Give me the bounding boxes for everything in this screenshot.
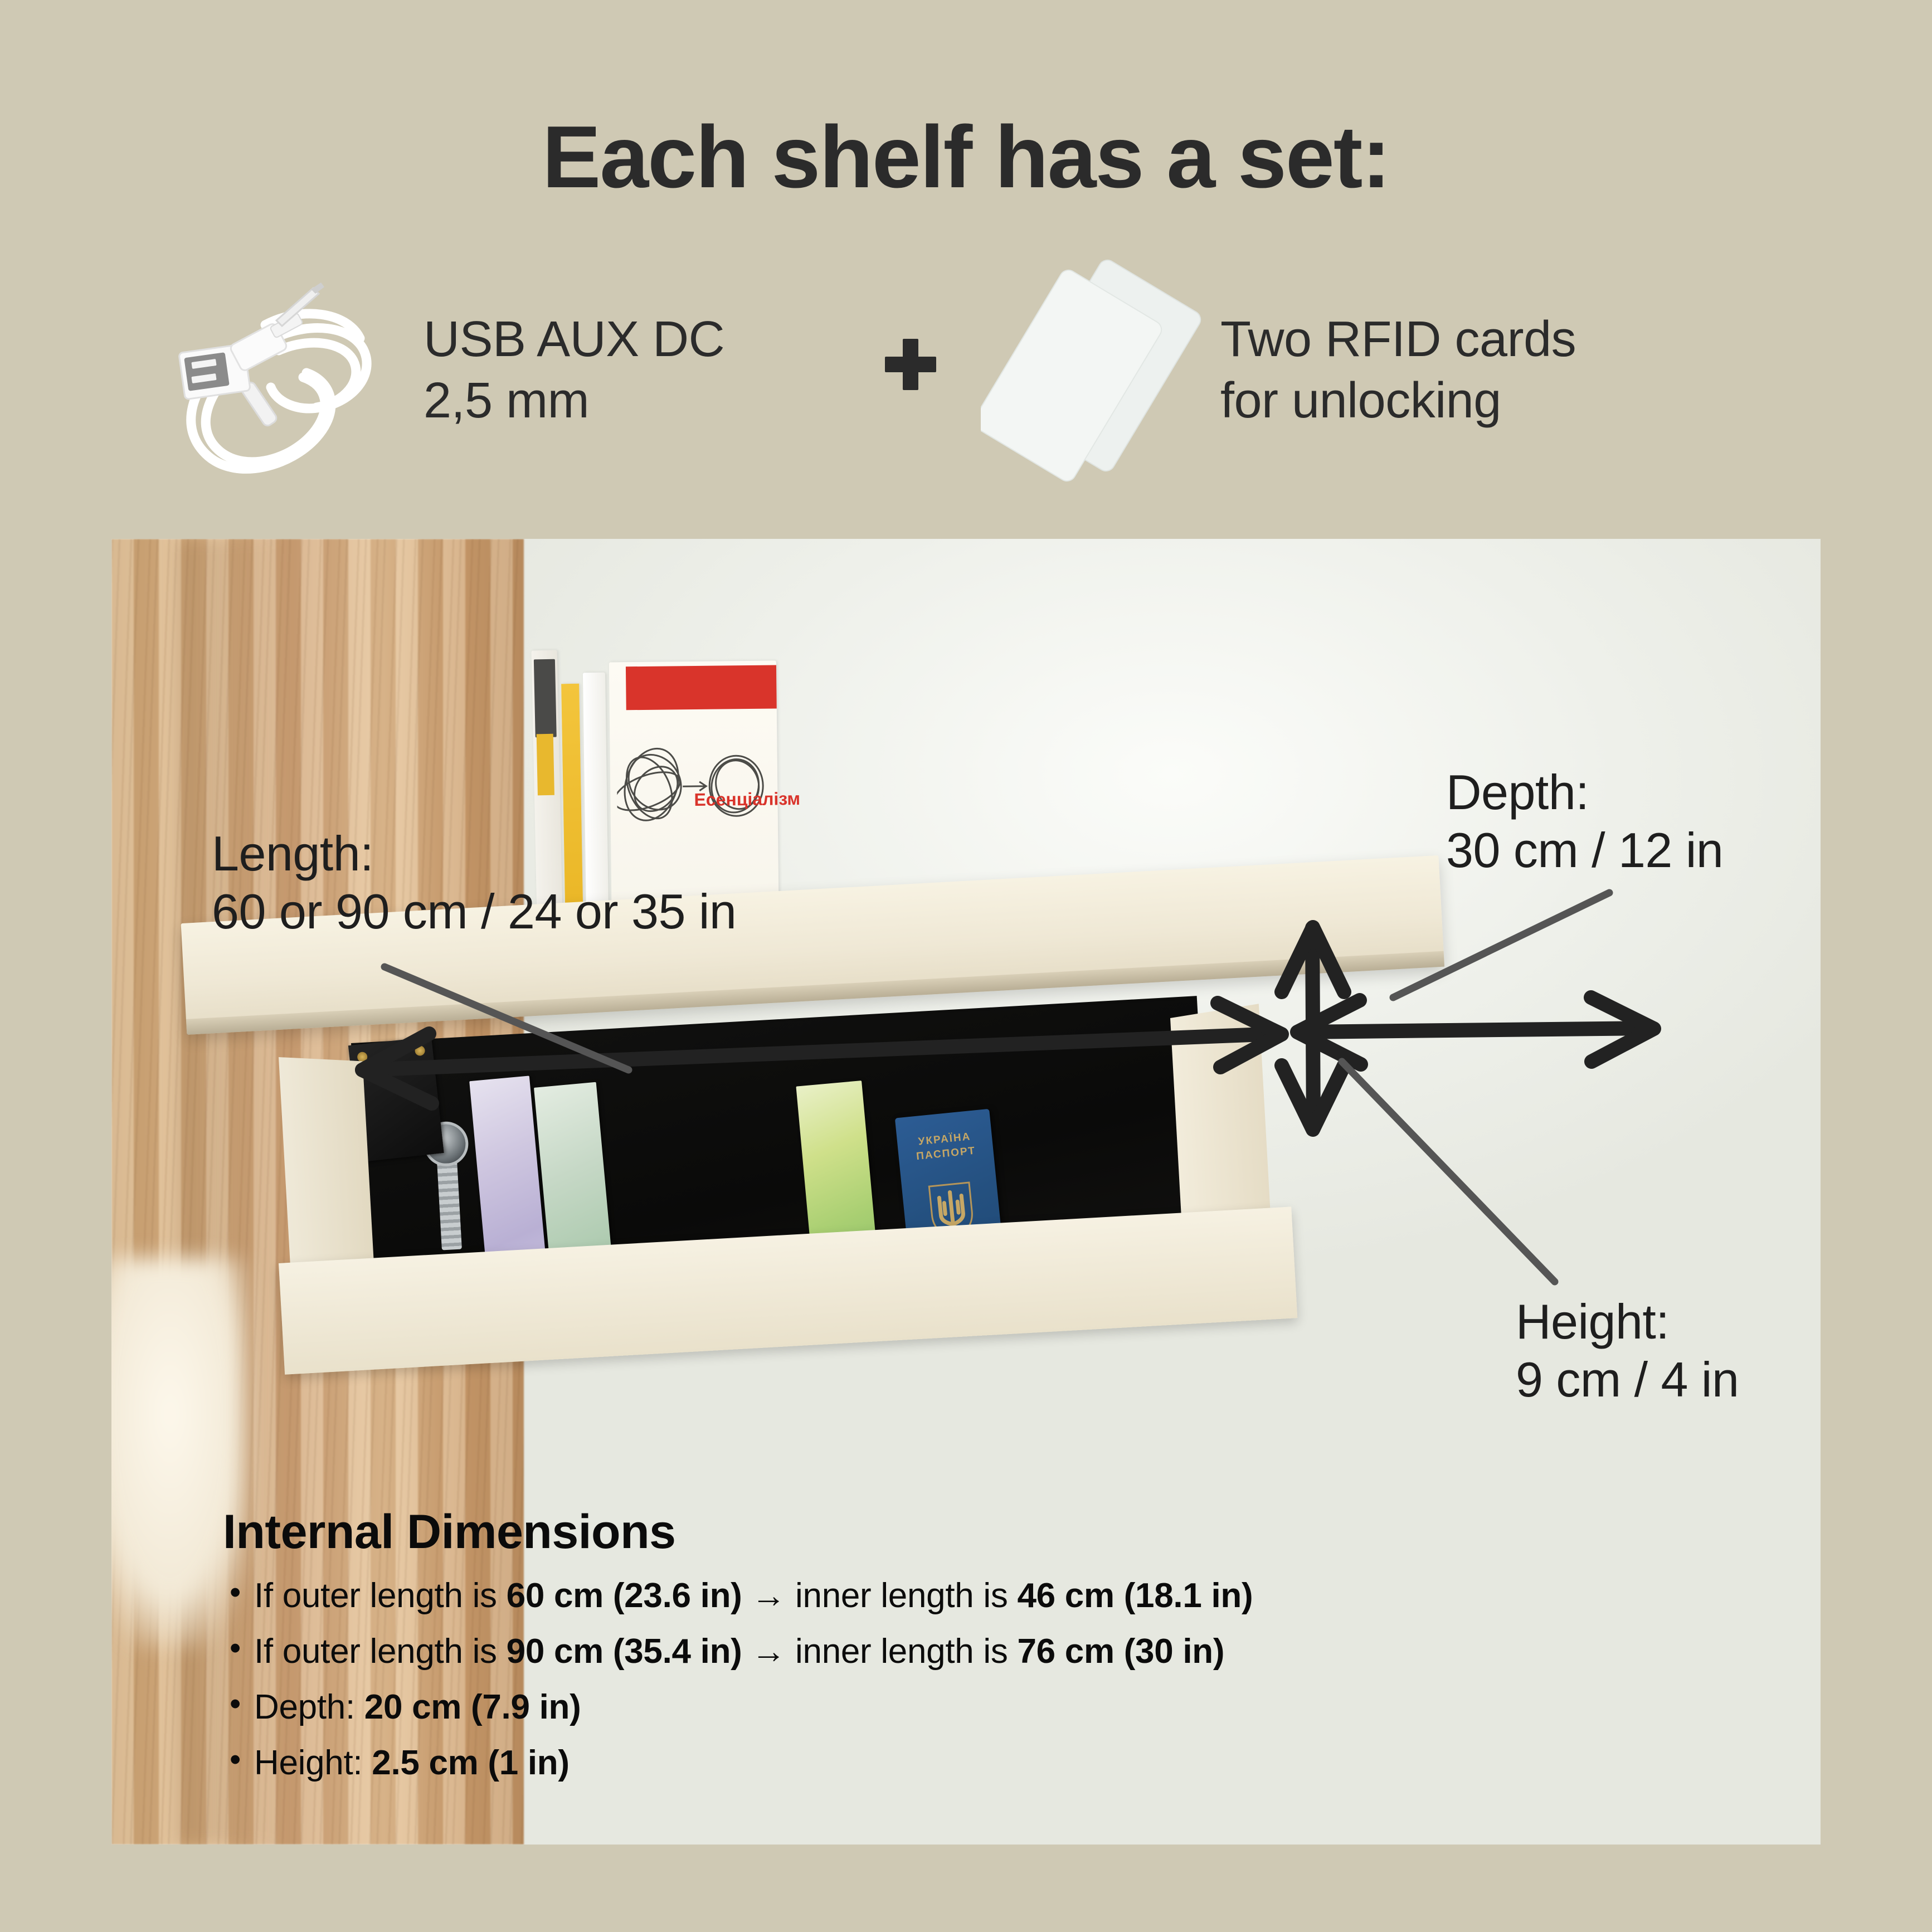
infographic-page: Each shelf has a set: xyxy=(0,0,1932,1932)
internal-dimension-item: If outer length is 90 cm (35.4 in) → inn… xyxy=(254,1634,1616,1669)
length-label: Length: 60 or 90 cm / 24 or 35 in xyxy=(212,825,736,941)
internal-dimensions-section: Internal Dimensions If outer length is 6… xyxy=(223,1505,1616,1802)
internal-dimensions-list: If outer length is 60 cm (23.6 in) → inn… xyxy=(223,1579,1616,1780)
depth-label: Depth: 30 cm / 12 in xyxy=(1446,763,1723,879)
plus-icon xyxy=(885,339,936,390)
height-label: Height: 9 cm / 4 in xyxy=(1516,1293,1739,1409)
internal-dimension-item: Height: 2.5 cm (1 in) xyxy=(254,1746,1616,1780)
feature-rfid-cards: Two RFID cards for unlocking xyxy=(981,240,1783,502)
usb-cable-icon xyxy=(167,254,424,488)
internal-dimension-item: Depth: 20 cm (7.9 in) xyxy=(254,1690,1616,1725)
feature-rfid-label: Two RFID cards for unlocking xyxy=(1220,309,1576,432)
rfid-cards-icon xyxy=(981,254,1220,488)
internal-dimension-item: If outer length is 60 cm (23.6 in) → inn… xyxy=(254,1579,1616,1613)
feature-usb-cable: USB AUX DC 2,5 mm xyxy=(167,240,836,502)
page-title: Each shelf has a set: xyxy=(0,111,1932,204)
feature-row: USB AUX DC 2,5 mm Two RFID cards for unl… xyxy=(167,240,1783,502)
feature-usb-label: USB AUX DC 2,5 mm xyxy=(424,309,724,432)
internal-dimensions-title: Internal Dimensions xyxy=(223,1505,1616,1560)
